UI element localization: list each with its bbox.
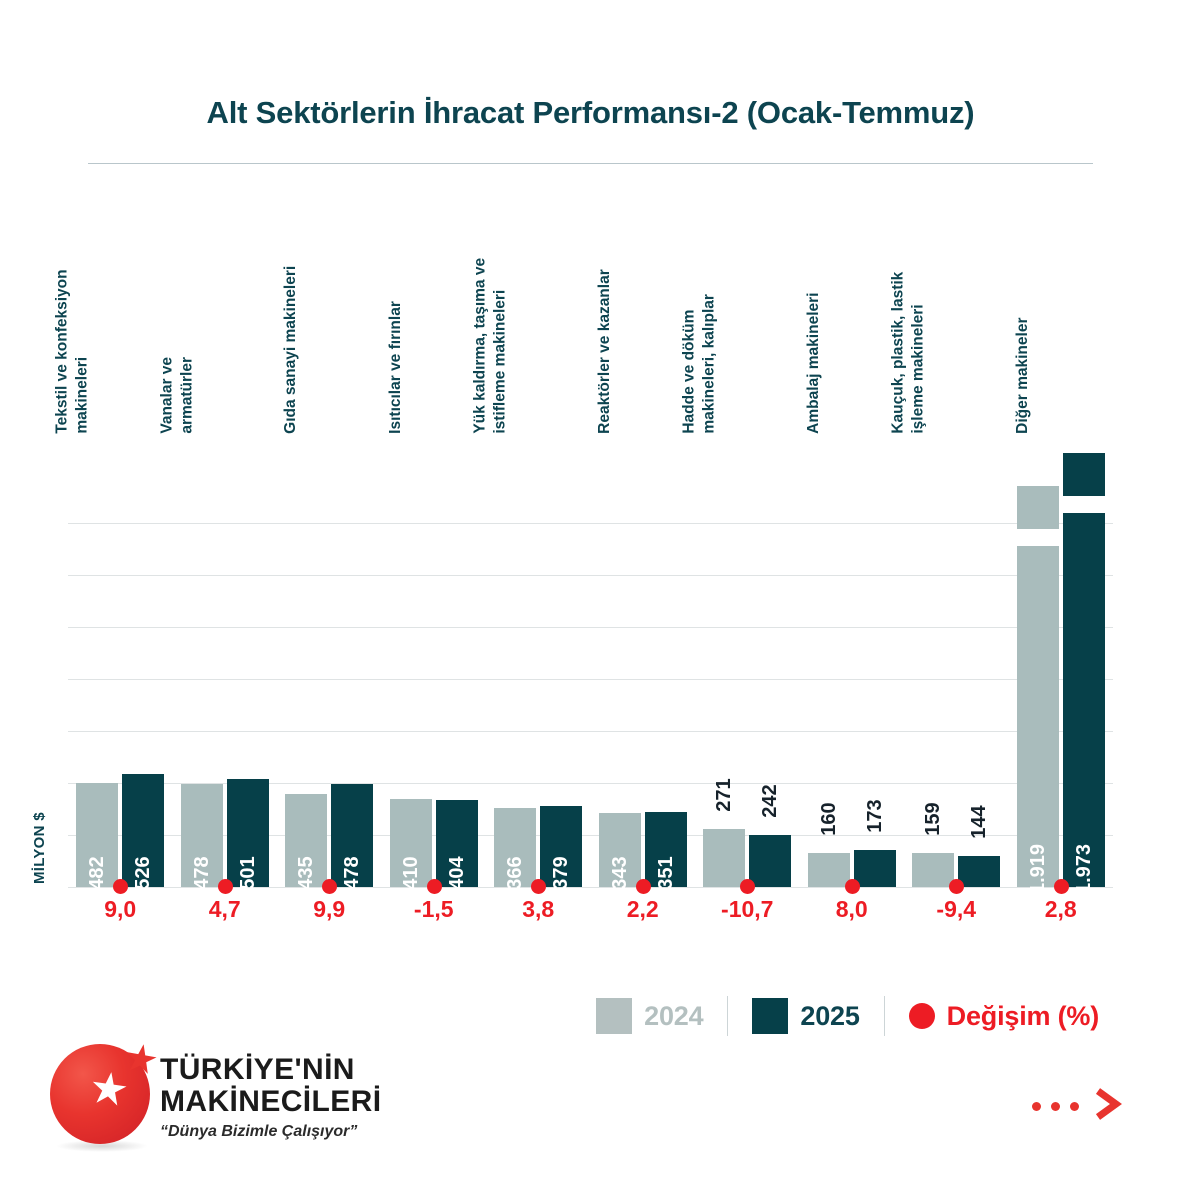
bar-value-2024: 435	[295, 852, 317, 894]
bar-value-2024: 366	[504, 852, 526, 894]
bar-value-2024: 1.919	[1027, 852, 1049, 894]
logo-line-2: MAKİNECİLERİ	[160, 1086, 381, 1118]
gridline	[68, 575, 1113, 576]
change-marker-dot[interactable]	[949, 879, 964, 894]
bar-2024[interactable]	[703, 829, 745, 887]
legend-item-2025[interactable]: 2025	[728, 998, 883, 1034]
category-label: Reaktörler ve kazanlar	[595, 269, 615, 434]
change-marker-dot[interactable]	[740, 879, 755, 894]
change-percent-label: 2,2	[591, 896, 696, 923]
bar-2025[interactable]	[1063, 513, 1105, 887]
gridline	[68, 731, 1113, 732]
legend-item-2024[interactable]: 2024	[572, 998, 727, 1034]
category-label-line: makineleri, kalıplar	[699, 294, 719, 434]
change-marker-dot[interactable]	[845, 879, 860, 894]
category-label-line: istifleme makineleri	[490, 258, 510, 434]
bar-value-2025: 379	[550, 852, 572, 894]
category-label: Gıda sanayi makineleri	[281, 266, 301, 434]
bar-value-2024: 482	[86, 852, 108, 894]
category-label-line: Diğer makineler	[1014, 318, 1031, 434]
arrow-dot-icon	[1070, 1102, 1079, 1111]
category-label: Diğer makineler	[1013, 318, 1033, 434]
category-labels: Tekstil ve konfeksiyonmakineleriVanalar …	[68, 188, 1113, 434]
bar-value-2024: 410	[400, 852, 422, 894]
bar-value-2025: 501	[237, 852, 259, 894]
logo-text: TÜRKİYE'NİN MAKİNECİLERİ “Dünya Bizimle …	[160, 1054, 381, 1141]
category-label: Yük kaldırma, taşıma veistifleme makinel…	[470, 258, 510, 434]
category-label-line: armatürler	[177, 357, 197, 434]
change-percent-label: 2,8	[1009, 896, 1114, 923]
change-marker-dot[interactable]	[113, 879, 128, 894]
bar-value-2024: 271	[713, 774, 735, 816]
change-percent-label: -10,7	[695, 896, 800, 923]
change-percent-label: 9,9	[277, 896, 382, 923]
legend-label: Değişim (%)	[947, 1001, 1099, 1032]
legend-label: 2025	[800, 1001, 859, 1032]
chart-area: Tekstil ve konfeksiyonmakineleriVanalar …	[68, 188, 1113, 948]
category-label: Ambalaj makineleri	[804, 293, 824, 434]
category-label: Kauçuk, plastik, lastikişleme makineleri	[888, 272, 928, 434]
change-percent-label: 8,0	[800, 896, 905, 923]
bar-value-2025: 526	[132, 852, 154, 894]
legend-label: 2024	[644, 1001, 703, 1032]
category-label-line: Hadde ve döküm	[680, 310, 697, 434]
change-percent-label: 3,8	[486, 896, 591, 923]
bar-2025[interactable]	[749, 835, 791, 887]
plot-region: MİLYON $ 4825264785014354784104043663793…	[68, 491, 1113, 888]
bar-2025[interactable]	[854, 850, 896, 887]
gridline	[68, 523, 1113, 524]
change-marker-dot[interactable]	[427, 879, 442, 894]
bar-2025[interactable]	[958, 856, 1000, 887]
change-marker-dot[interactable]	[218, 879, 233, 894]
gridline	[68, 783, 1113, 784]
title-block: Alt Sektörlerin İhracat Performansı-2 (O…	[0, 95, 1181, 131]
logo-tagline: “Dünya Bizimle Çalışıyor”	[160, 1123, 381, 1141]
category-label-line: Yük kaldırma, taşıma ve	[471, 258, 488, 434]
category-label: Tekstil ve konfeksiyonmakineleri	[52, 270, 92, 434]
legend-circle-icon	[909, 1003, 935, 1029]
change-percent-label: -1,5	[382, 896, 487, 923]
category-label-line: Vanalar ve	[158, 357, 175, 434]
bar-value-2025: 351	[655, 852, 677, 894]
change-percent-row: 9,04,79,9-1,53,82,2-10,78,0-9,42,8	[68, 896, 1113, 936]
legend-swatch-icon	[596, 998, 632, 1034]
bar-value-2024: 478	[191, 852, 213, 894]
category-label-line: Isıtıcılar ve fırınlar	[387, 301, 404, 434]
category-label: Hadde ve dökümmakineleri, kalıplar	[679, 294, 719, 434]
change-marker-dot[interactable]	[636, 879, 651, 894]
bar-value-2024: 343	[609, 852, 631, 894]
category-label-line: Ambalaj makineleri	[805, 293, 822, 434]
chevron-right-icon	[1093, 1087, 1123, 1126]
gridline	[68, 835, 1113, 836]
next-arrow[interactable]	[1032, 1087, 1123, 1126]
bar-value-2024: 160	[818, 798, 840, 840]
bar-value-2025: 144	[968, 801, 990, 843]
chart-legend: 20242025Değişim (%)	[572, 993, 1123, 1039]
change-percent-label: 4,7	[173, 896, 278, 923]
bar-2024-top-segment[interactable]	[1017, 486, 1059, 529]
y-axis-title: MİLYON $	[31, 812, 48, 884]
bar-2024[interactable]	[912, 853, 954, 887]
change-marker-dot[interactable]	[531, 879, 546, 894]
legend-swatch-icon	[752, 998, 788, 1034]
gridline	[68, 627, 1113, 628]
category-label-line: makineleri	[72, 270, 92, 434]
category-label: Vanalar vearmatürler	[157, 357, 197, 434]
bar-2024[interactable]	[808, 853, 850, 887]
bar-value-2025: 478	[341, 852, 363, 894]
category-label-line: işleme makineleri	[908, 272, 928, 434]
category-label: Isıtıcılar ve fırınlar	[386, 301, 406, 434]
bar-value-2025: 404	[446, 852, 468, 894]
page-title: Alt Sektörlerin İhracat Performansı-2 (O…	[0, 95, 1181, 131]
change-marker-dot[interactable]	[1054, 879, 1069, 894]
gridline	[68, 679, 1113, 680]
bar-value-2025: 173	[864, 795, 886, 837]
change-percent-label: 9,0	[68, 896, 173, 923]
bar-value-2025: 1.973	[1073, 852, 1095, 894]
category-label-line: Gıda sanayi makineleri	[282, 266, 299, 434]
bar-2024[interactable]	[1017, 546, 1059, 887]
logo-line-1: TÜRKİYE'NİN	[160, 1054, 381, 1086]
arrow-dot-icon	[1051, 1102, 1060, 1111]
bar-value-2025: 242	[759, 780, 781, 822]
bar-value-2024: 159	[922, 798, 944, 840]
category-label-line: Kauçuk, plastik, lastik	[889, 272, 906, 434]
bar-2025-top-segment[interactable]	[1063, 453, 1105, 496]
category-label-line: Reaktörler ve kazanlar	[596, 269, 613, 434]
change-percent-label: -9,4	[904, 896, 1009, 923]
legend-item-de-i-im[interactable]: Değişim (%)	[885, 1001, 1123, 1032]
change-marker-dot[interactable]	[322, 879, 337, 894]
arrow-dot-icon	[1032, 1102, 1041, 1111]
category-label-line: Tekstil ve konfeksiyon	[53, 270, 70, 434]
brand-logo: TÜRKİYE'NİN MAKİNECİLERİ “Dünya Bizimle …	[48, 1040, 468, 1155]
title-divider	[88, 163, 1093, 164]
